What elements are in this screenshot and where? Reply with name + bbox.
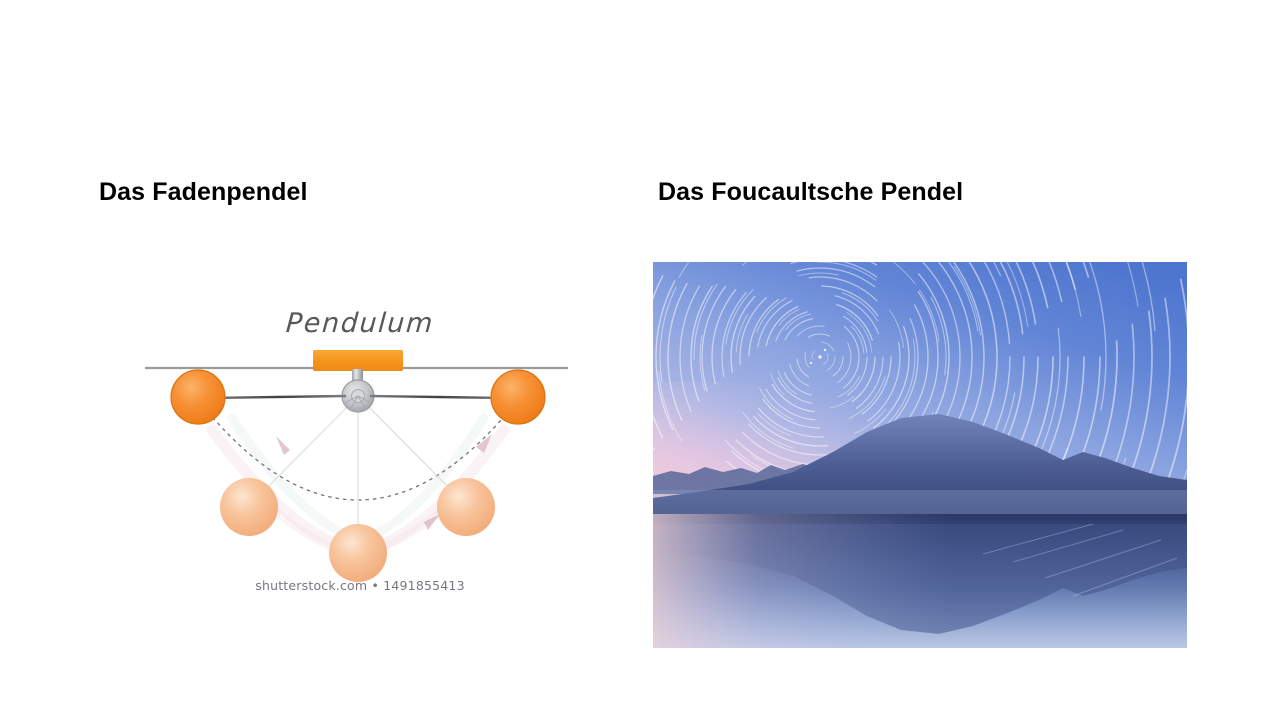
bob-bottom-center [329,524,387,582]
pendulum-title-label: Pendulum [139,308,581,339]
presentation-slide: Das Fadenpendel Das Foucaultsche Pendel [0,0,1280,720]
star-trails-svg-graphic [653,262,1187,648]
mount-block [313,350,403,371]
bob-right-extreme [491,370,545,424]
bob-right-mid [437,478,495,536]
pendulum-svg-graphic [140,300,580,605]
heading-foucaultsche-pendel: Das Foucaultsche Pendel [658,178,963,207]
pendulum-illustration: Pendulum shutterstock.com • 1491855413 [140,300,580,605]
lake-water [653,514,1187,648]
bob-left-mid [220,478,278,536]
bob-left-extreme [171,370,225,424]
heading-fadenpendel: Das Fadenpendel [99,178,308,207]
pivot-hub [342,380,374,412]
stock-watermark-label: shutterstock.com • 1491855413 [140,578,580,593]
star-trails-photo [653,262,1187,648]
